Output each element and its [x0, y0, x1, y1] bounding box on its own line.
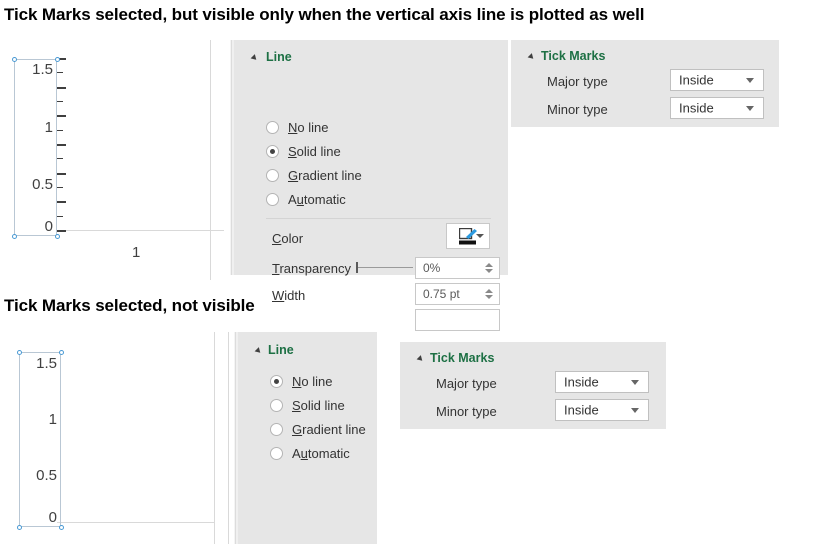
chart-2-plot-right-border	[214, 332, 215, 544]
chart-2-ytick-label: 1	[19, 411, 57, 428]
major-type-value: Inside	[564, 375, 599, 390]
tick-marks-panel-title: Tick Marks	[430, 351, 494, 365]
chevron-collapse-icon[interactable]	[417, 355, 425, 363]
chart-1-tick-major	[57, 115, 66, 117]
chart-1-axis-selection-box[interactable]	[14, 59, 57, 236]
chevron-collapse-icon[interactable]	[255, 347, 263, 355]
tick-marks-panel-title: Tick Marks	[541, 49, 605, 63]
selection-handle[interactable]	[59, 525, 64, 530]
section-2-heading: Tick Marks selected, not visible	[4, 296, 255, 316]
radio-label: Gradient line	[292, 422, 366, 437]
transparency-slider-thumb[interactable]	[356, 262, 358, 273]
radio-row-gradient-line[interactable]: Gradient line	[266, 168, 362, 183]
chevron-down-icon[interactable]	[746, 78, 754, 83]
chevron-down-icon[interactable]	[746, 106, 754, 111]
major-type-dropdown[interactable]: Inside	[555, 371, 649, 393]
chart-1-tick-minor	[57, 130, 63, 131]
minor-type-dropdown[interactable]: Inside	[670, 97, 764, 119]
chart-1-tick-major	[57, 201, 66, 203]
radio-row-solid-line[interactable]: Solid line	[270, 398, 345, 413]
chart-1-plot-right-border	[210, 40, 211, 280]
chart-1-tick-minor	[57, 158, 63, 159]
chart-2-pane-edge	[228, 332, 229, 544]
radio-label: No line	[288, 120, 328, 135]
chart-1-ytick-label: 1.5	[14, 61, 53, 78]
chart-2-ytick-label: 1.5	[19, 355, 57, 372]
spinner-down-icon[interactable]	[485, 295, 493, 299]
chart-1-ytick-label: 0.5	[12, 176, 53, 193]
radio-label: Gradient line	[288, 168, 362, 183]
width-field-label: Width	[272, 288, 305, 303]
radio-no-line[interactable]	[266, 121, 279, 134]
line-format-panel-2: Line No line Solid line Gradient line Au…	[234, 332, 377, 544]
chart-1-tick-major	[57, 87, 66, 89]
chart-1-tick-minor	[57, 187, 63, 188]
chart-2-ytick-label: 0.5	[17, 467, 57, 484]
chevron-down-icon[interactable]	[476, 234, 484, 238]
chart-1-tick-major	[57, 230, 66, 232]
minor-type-value: Inside	[564, 403, 599, 418]
radio-automatic[interactable]	[270, 447, 283, 460]
chevron-collapse-icon[interactable]	[251, 54, 259, 62]
chart-1-baseline	[57, 230, 224, 231]
radio-automatic[interactable]	[266, 193, 279, 206]
transparency-field-label: Transparency	[272, 261, 351, 276]
section-1-heading: Tick Marks selected, but visible only wh…	[4, 5, 644, 25]
color-field-label: Color	[272, 231, 303, 246]
chart-1-tick-minor	[57, 216, 63, 217]
minor-type-label: Minor type	[436, 404, 497, 419]
radio-solid-line[interactable]	[266, 145, 279, 158]
color-picker-button[interactable]	[446, 223, 490, 249]
radio-gradient-line[interactable]	[266, 169, 279, 182]
tick-marks-panel-1: Tick Marks Major type Inside Minor type …	[511, 40, 779, 127]
radio-row-no-line[interactable]: No line	[270, 374, 332, 389]
radio-no-line[interactable]	[270, 375, 283, 388]
chart-1-category-label: 1	[132, 244, 140, 261]
panel-scroll-rail[interactable]	[234, 332, 239, 544]
selection-handle[interactable]	[55, 57, 60, 62]
pen-color-icon	[459, 228, 478, 245]
chart-1-tick-minor	[57, 72, 63, 73]
line-format-panel-1: Line No line Solid line Gradient line Au…	[230, 40, 508, 275]
radio-gradient-line[interactable]	[270, 423, 283, 436]
selection-handle[interactable]	[55, 234, 60, 239]
minor-type-value: Inside	[679, 101, 714, 116]
spinner-up-icon[interactable]	[485, 289, 493, 293]
width-input[interactable]: 0.75 pt	[415, 283, 500, 305]
line-panel-title: Line	[266, 50, 292, 64]
chart-2-ytick-label: 0	[19, 509, 57, 526]
next-field-partial[interactable]	[415, 309, 500, 331]
radio-row-automatic[interactable]: Automatic	[270, 446, 350, 461]
minor-type-label: Minor type	[547, 102, 608, 117]
width-value: 0.75 pt	[423, 287, 460, 301]
chart-2-axis-selection-box[interactable]	[19, 352, 61, 527]
chart-1[interactable]: 1.5 1 0.5 0 1	[0, 40, 225, 280]
tick-marks-panel-2: Tick Marks Major type Inside Minor type …	[400, 342, 666, 429]
spinner-up-icon[interactable]	[485, 263, 493, 267]
transparency-input[interactable]: 0%	[415, 257, 500, 279]
chart-2[interactable]: 1.5 1 0.5 0	[0, 332, 232, 544]
selection-handle[interactable]	[59, 350, 64, 355]
radio-label: No line	[292, 374, 332, 389]
chart-1-tick-major	[57, 173, 66, 175]
transparency-slider-track[interactable]	[357, 267, 413, 268]
line-panel-title: Line	[268, 343, 294, 357]
transparency-value: 0%	[423, 261, 440, 275]
radio-row-no-line[interactable]: No line	[266, 120, 328, 135]
radio-label: Solid line	[288, 144, 341, 159]
chart-2-baseline	[57, 522, 214, 523]
spinner-down-icon[interactable]	[485, 269, 493, 273]
chevron-down-icon[interactable]	[631, 408, 639, 413]
chart-1-ytick-label: 1	[14, 119, 53, 136]
chart-1-ytick-label: 0	[14, 218, 53, 235]
chart-1-tick-major	[57, 144, 66, 146]
major-type-label: Major type	[436, 376, 497, 391]
major-type-dropdown[interactable]: Inside	[670, 69, 764, 91]
chevron-collapse-icon[interactable]	[528, 53, 536, 61]
radio-solid-line[interactable]	[270, 399, 283, 412]
radio-row-solid-line[interactable]: Solid line	[266, 144, 341, 159]
major-type-value: Inside	[679, 73, 714, 88]
radio-label: Automatic	[292, 446, 350, 461]
radio-row-automatic[interactable]: Automatic	[266, 192, 346, 207]
minor-type-dropdown[interactable]: Inside	[555, 399, 649, 421]
panel-divider	[266, 218, 491, 219]
chevron-down-icon[interactable]	[631, 380, 639, 385]
panel-scroll-rail[interactable]	[230, 40, 235, 275]
radio-row-gradient-line[interactable]: Gradient line	[270, 422, 366, 437]
major-type-label: Major type	[547, 74, 608, 89]
radio-label: Automatic	[288, 192, 346, 207]
radio-label: Solid line	[292, 398, 345, 413]
chart-1-tick-minor	[57, 101, 63, 102]
